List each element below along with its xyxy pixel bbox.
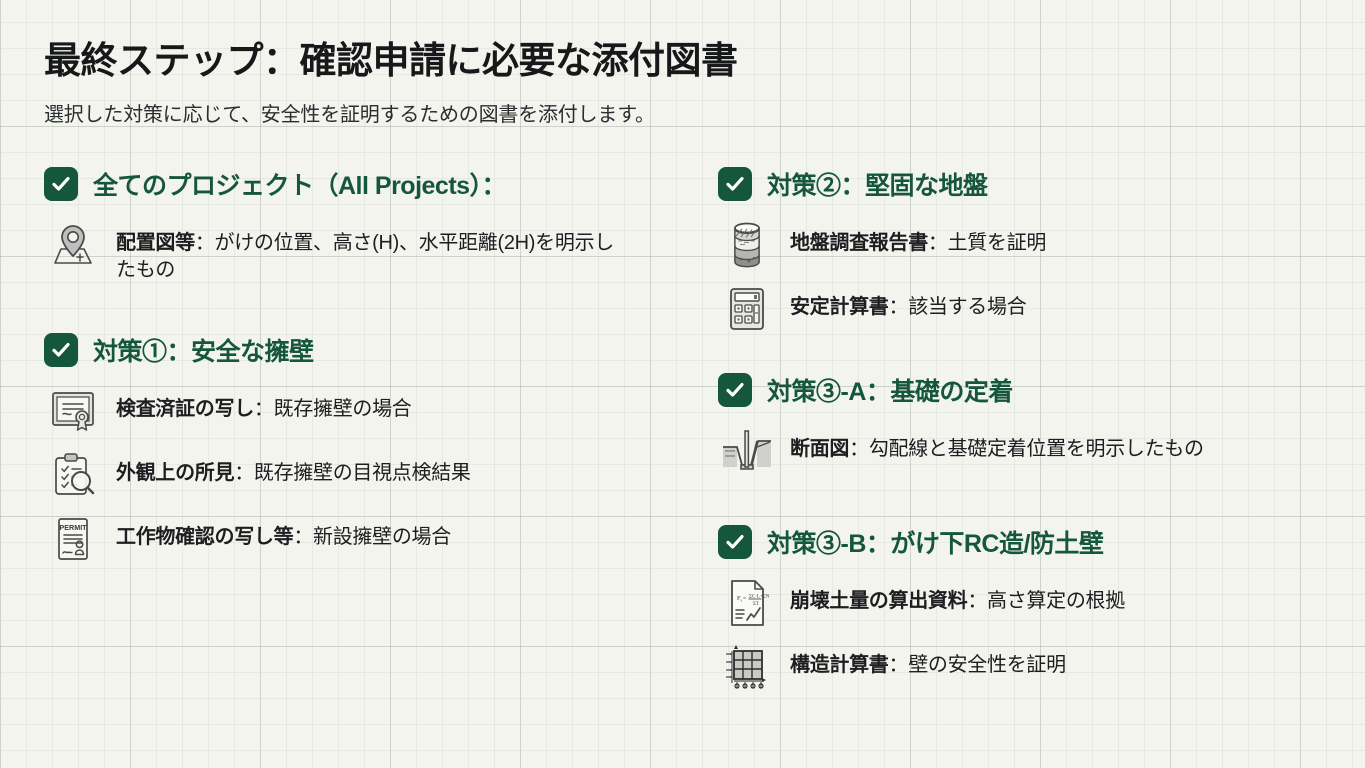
group-header[interactable]: 対策①：安全な擁壁 <box>44 332 694 368</box>
list-item: PERMIT 工作物確認の写し等：新設擁壁の場合 <box>44 510 694 568</box>
item-lead: 崩壊土量の算出資料 <box>790 590 967 612</box>
item-detail: 既存擁壁の場合 <box>274 398 412 420</box>
checkbox-checked-icon[interactable] <box>44 333 78 367</box>
item-text: 断面図：勾配線と基礎定着位置を明示したもの <box>790 422 1204 463</box>
list-item: 地盤調査報告書：土質を証明 <box>718 216 1358 274</box>
right-column: 対策②：堅固な地盤 <box>718 166 1358 702</box>
item-lead: 断面図 <box>790 438 849 460</box>
group-measure-3b: 対策③-B：がけ下RC造/防土壁 F s = ΣC·L+ΣN ΣT <box>718 524 1358 696</box>
group-header[interactable]: 全てのプロジェクト（All Projects）： <box>44 166 694 202</box>
item-text: 外観上の所見：既存擁壁の目視点検結果 <box>116 446 471 487</box>
item-sep: ： <box>928 232 948 254</box>
group-items: F s = ΣC·L+ΣN ΣT 崩壊土量の算出資料：高さ算定の根拠 <box>718 574 1358 696</box>
item-text: 地盤調査報告書：土質を証明 <box>790 216 1046 257</box>
item-detail: 壁の安全性を証明 <box>908 654 1066 676</box>
group-header[interactable]: 対策②：堅固な地盤 <box>718 166 1358 202</box>
item-text: 検査済証の写し：既存擁壁の場合 <box>116 382 412 423</box>
list-item: 安定計算書：該当する場合 <box>718 280 1358 338</box>
group-measure-3a: 対策③-A：基礎の定着 <box>718 372 1358 480</box>
list-item: 外観上の所見：既存擁壁の目視点検結果 <box>44 446 694 504</box>
item-lead: 安定計算書 <box>790 296 889 318</box>
group-title: 対策①：安全な擁壁 <box>93 332 314 368</box>
item-sep: ： <box>234 462 254 484</box>
item-text: 安定計算書：該当する場合 <box>790 280 1026 321</box>
group-items: 地盤調査報告書：土質を証明 <box>718 216 1358 338</box>
item-sep: ： <box>254 398 274 420</box>
item-lead: 検査済証の写し <box>116 398 254 420</box>
group-all-projects: 全てのプロジェクト（All Projects）： 配置図等：がけの位置、高さ(H… <box>44 166 694 284</box>
item-lead: 外観上の所見 <box>116 462 234 484</box>
list-item: 検査済証の写し：既存擁壁の場合 <box>44 382 694 440</box>
item-sep: ： <box>889 296 909 318</box>
group-title: 対策②：堅固な地盤 <box>767 166 988 202</box>
structural-grid-icon <box>718 638 776 696</box>
group-items: 配置図等：がけの位置、高さ(H)、水平距離(2H)を明示したもの <box>44 216 694 284</box>
list-item: F s = ΣC·L+ΣN ΣT 崩壊土量の算出資料：高さ算定の根拠 <box>718 574 1358 632</box>
group-items: 検査済証の写し：既存擁壁の場合 <box>44 382 694 568</box>
item-sep: ： <box>849 438 869 460</box>
item-detail: 高さ算定の根拠 <box>987 590 1125 612</box>
item-lead: 地盤調査報告書 <box>790 232 928 254</box>
page-subtitle: 選択した対策に応じて、安全性を証明するための図書を添付します。 <box>44 98 738 127</box>
list-item: 配置図等：がけの位置、高さ(H)、水平距離(2H)を明示したもの <box>44 216 694 284</box>
group-measure-2: 対策②：堅固な地盤 <box>718 166 1358 338</box>
svg-text:PERMIT: PERMIT <box>59 523 87 532</box>
item-lead: 構造計算書 <box>790 654 889 676</box>
item-detail: 既存擁壁の目視点検結果 <box>254 462 471 484</box>
certificate-icon <box>44 382 102 440</box>
slide-root: 最終ステップ：確認申請に必要な添付図書 選択した対策に応じて、安全性を証明するた… <box>0 0 1365 768</box>
group-measure-1: 対策①：安全な擁壁 検査済証の <box>44 332 694 568</box>
item-detail: 新設擁壁の場合 <box>313 526 451 548</box>
group-title: 全てのプロジェクト（All Projects）： <box>93 166 506 202</box>
item-sep: ： <box>195 232 215 254</box>
item-lead: 配置図等 <box>116 232 195 254</box>
svg-text:ΣT: ΣT <box>753 602 759 607</box>
item-lead: 工作物確認の写し等 <box>116 526 293 548</box>
calculator-icon <box>718 280 776 338</box>
foundation-section-icon <box>718 422 776 480</box>
item-text: 工作物確認の写し等：新設擁壁の場合 <box>116 510 451 551</box>
checkbox-checked-icon[interactable] <box>718 525 752 559</box>
clipboard-inspection-icon <box>44 446 102 504</box>
item-detail: 該当する場合 <box>908 296 1026 318</box>
group-title: 対策③-A：基礎の定着 <box>767 372 1013 408</box>
group-items: 断面図：勾配線と基礎定着位置を明示したもの <box>718 422 1358 480</box>
item-text: 構造計算書：壁の安全性を証明 <box>790 638 1066 679</box>
group-title: 対策③-B：がけ下RC造/防土壁 <box>767 524 1103 560</box>
header: 最終ステップ：確認申請に必要な添付図書 選択した対策に応じて、安全性を証明するた… <box>44 30 738 127</box>
permit-document-icon: PERMIT <box>44 510 102 568</box>
item-detail: 土質を証明 <box>948 232 1047 254</box>
group-header[interactable]: 対策③-B：がけ下RC造/防土壁 <box>718 524 1358 560</box>
group-header[interactable]: 対策③-A：基礎の定着 <box>718 372 1358 408</box>
item-text: 崩壊土量の算出資料：高さ算定の根拠 <box>790 574 1125 615</box>
item-text: 配置図等：がけの位置、高さ(H)、水平距離(2H)を明示したもの <box>116 216 616 284</box>
item-sep: ： <box>967 590 987 612</box>
item-sep: ： <box>293 526 313 548</box>
formula-document-icon: F s = ΣC·L+ΣN ΣT <box>718 574 776 632</box>
list-item: 断面図：勾配線と基礎定着位置を明示したもの <box>718 422 1358 480</box>
list-item: 構造計算書：壁の安全性を証明 <box>718 638 1358 696</box>
item-sep: ： <box>889 654 909 676</box>
left-column: 全てのプロジェクト（All Projects）： 配置図等：がけの位置、高さ(H… <box>44 166 694 574</box>
map-pin-icon <box>44 216 102 274</box>
page-title: 最終ステップ：確認申請に必要な添付図書 <box>44 30 738 84</box>
checkbox-checked-icon[interactable] <box>718 167 752 201</box>
soil-core-icon <box>718 216 776 274</box>
item-detail: 勾配線と基礎定着位置を明示したもの <box>869 438 1204 460</box>
checkbox-checked-icon[interactable] <box>44 167 78 201</box>
checkbox-checked-icon[interactable] <box>718 373 752 407</box>
